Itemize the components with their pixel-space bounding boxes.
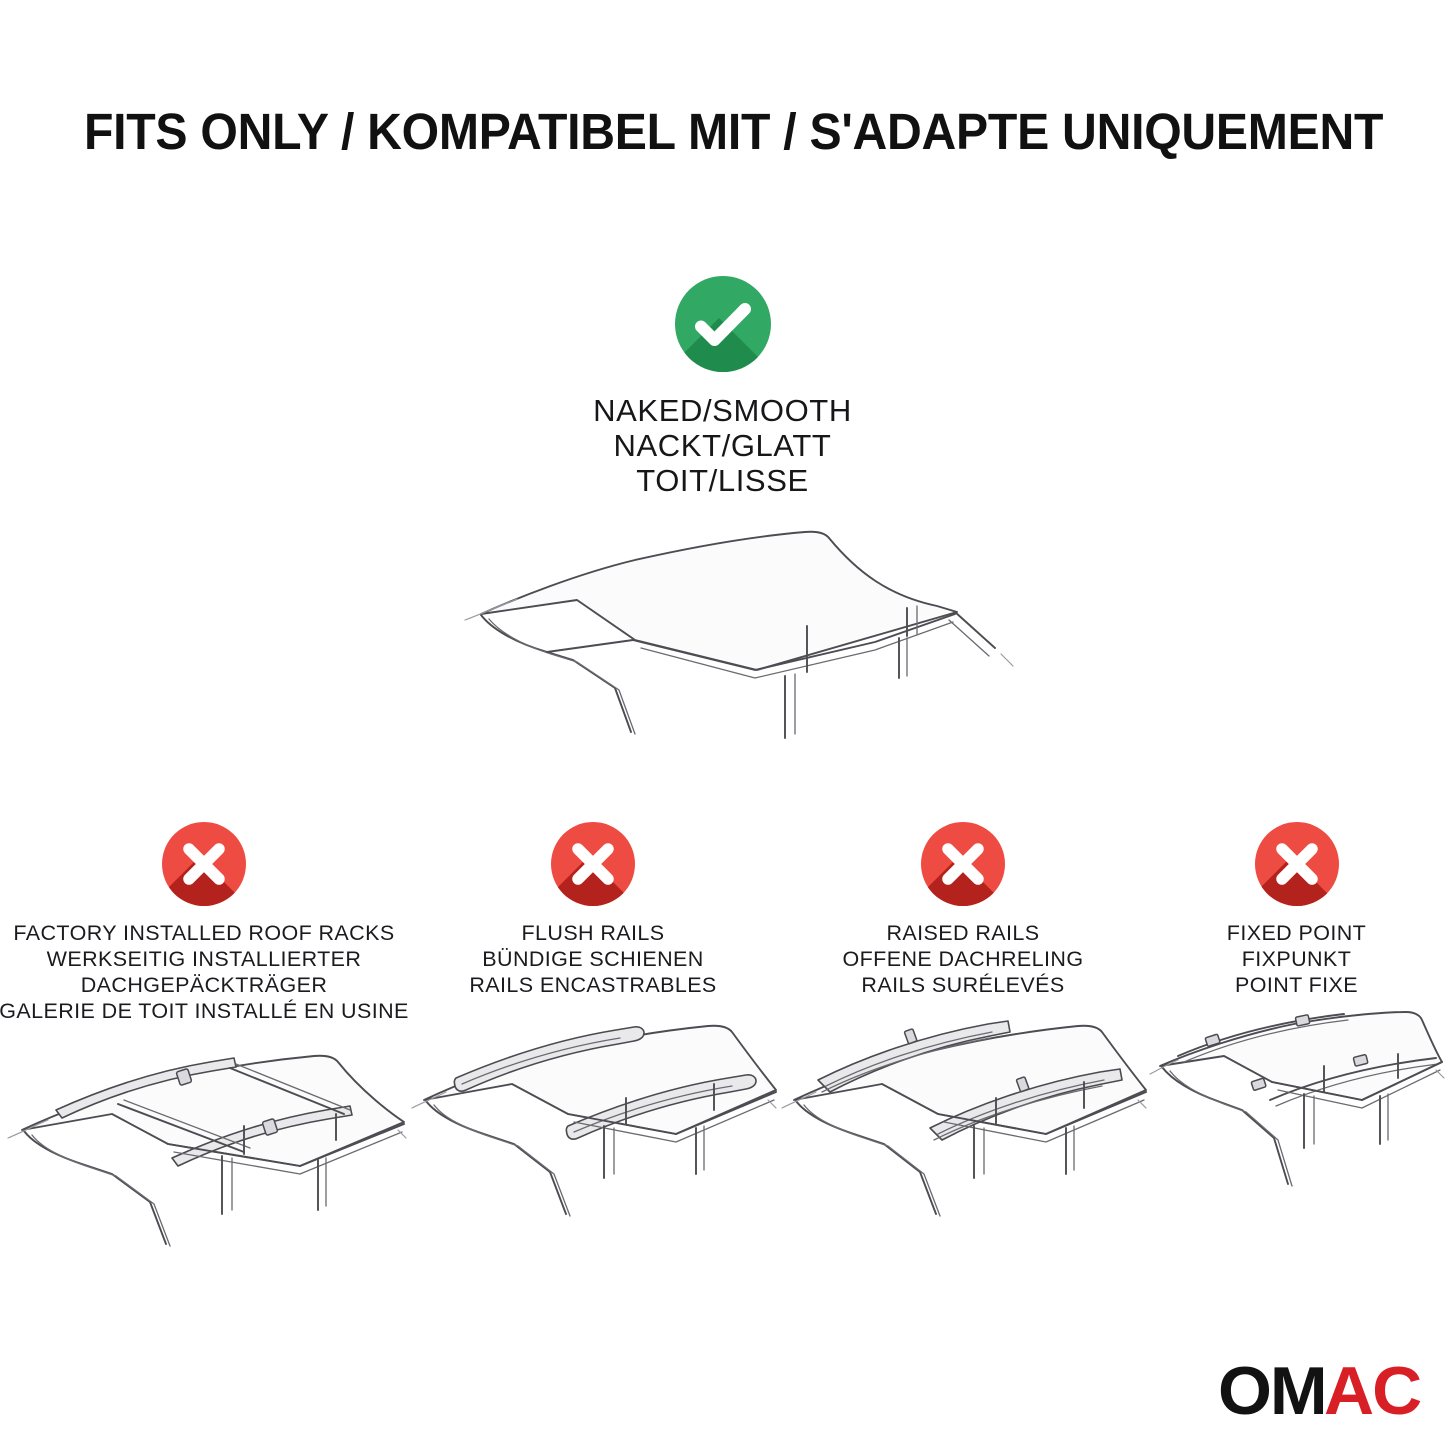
x-circle-icon	[551, 822, 635, 906]
page-title: FITS ONLY / KOMPATIBEL MIT / S'ADAPTE UN…	[84, 104, 1303, 160]
item-label-fr: GALERIE DE TOIT INSTALLÉ EN USINE	[0, 998, 409, 1024]
item-label-en: FLUSH RAILS	[469, 920, 716, 946]
car-roof-raised-rails-illustration	[778, 1008, 1148, 1228]
incompatible-item-flush-rails: FLUSH RAILS BÜNDIGE SCHIENEN RAILS ENCAS…	[408, 822, 778, 1228]
incompatible-item-factory-installed-roof-racks: FACTORY INSTALLED ROOF RACKS WERKSEITIG …	[0, 822, 408, 1254]
item-label-fr: RAILS ENCASTRABLES	[469, 972, 716, 998]
item-label-en: RAISED RAILS	[843, 920, 1084, 946]
item-label-de-line1: WERKSEITIG INSTALLIERTER	[0, 946, 409, 972]
car-roof-naked-smooth-illustration	[455, 502, 1015, 752]
compatible-labels: NAKED/SMOOTH NACKT/GLATT TOIT/LISSE	[0, 393, 1445, 498]
item-label-en: FACTORY INSTALLED ROOF RACKS	[0, 920, 409, 946]
car-roof-fixed-point-illustration	[1148, 1008, 1445, 1228]
item-labels: RAISED RAILS OFFENE DACHRELING RAILS SUR…	[843, 920, 1084, 998]
incompatible-item-fixed-point: FIXED POINT FIXPUNKT POINT FIXE	[1148, 822, 1445, 1228]
compatible-label-de: NACKT/GLATT	[0, 428, 1445, 463]
item-labels: FLUSH RAILS BÜNDIGE SCHIENEN RAILS ENCAS…	[469, 920, 716, 998]
item-labels: FACTORY INSTALLED ROOF RACKS WERKSEITIG …	[0, 920, 409, 1024]
compatible-label-en: NAKED/SMOOTH	[0, 393, 1445, 428]
item-label-fr: POINT FIXE	[1227, 972, 1366, 998]
car-roof-flush-rails-illustration	[408, 1008, 778, 1228]
compatible-section: NAKED/SMOOTH NACKT/GLATT TOIT/LISSE	[0, 276, 1445, 498]
omac-logo: OM AC	[1219, 1359, 1419, 1423]
header: FITS ONLY / KOMPATIBEL MIT / S'ADAPTE UN…	[0, 0, 1445, 200]
x-circle-icon	[921, 822, 1005, 906]
compatible-label-fr: TOIT/LISSE	[0, 463, 1445, 498]
item-label-de: BÜNDIGE SCHIENEN	[469, 946, 716, 972]
x-circle-icon	[1255, 822, 1339, 906]
item-label-de: FIXPUNKT	[1227, 946, 1366, 972]
logo-text-om: OM	[1218, 1359, 1326, 1423]
incompatible-section: FACTORY INSTALLED ROOF RACKS WERKSEITIG …	[0, 822, 1445, 1254]
item-label-de: OFFENE DACHRELING	[843, 946, 1084, 972]
item-label-de-line2: DACHGEPÄCKTRÄGER	[0, 972, 409, 998]
item-label-en: FIXED POINT	[1227, 920, 1366, 946]
check-circle-icon	[675, 276, 771, 372]
incompatible-item-raised-rails: RAISED RAILS OFFENE DACHRELING RAILS SUR…	[778, 822, 1148, 1228]
item-labels: FIXED POINT FIXPUNKT POINT FIXE	[1227, 920, 1366, 998]
car-roof-factory-rack-illustration	[0, 1034, 408, 1254]
logo-text-ac: AC	[1324, 1359, 1420, 1423]
item-label-fr: RAILS SURÉLEVÉS	[843, 972, 1084, 998]
x-circle-icon	[162, 822, 246, 906]
